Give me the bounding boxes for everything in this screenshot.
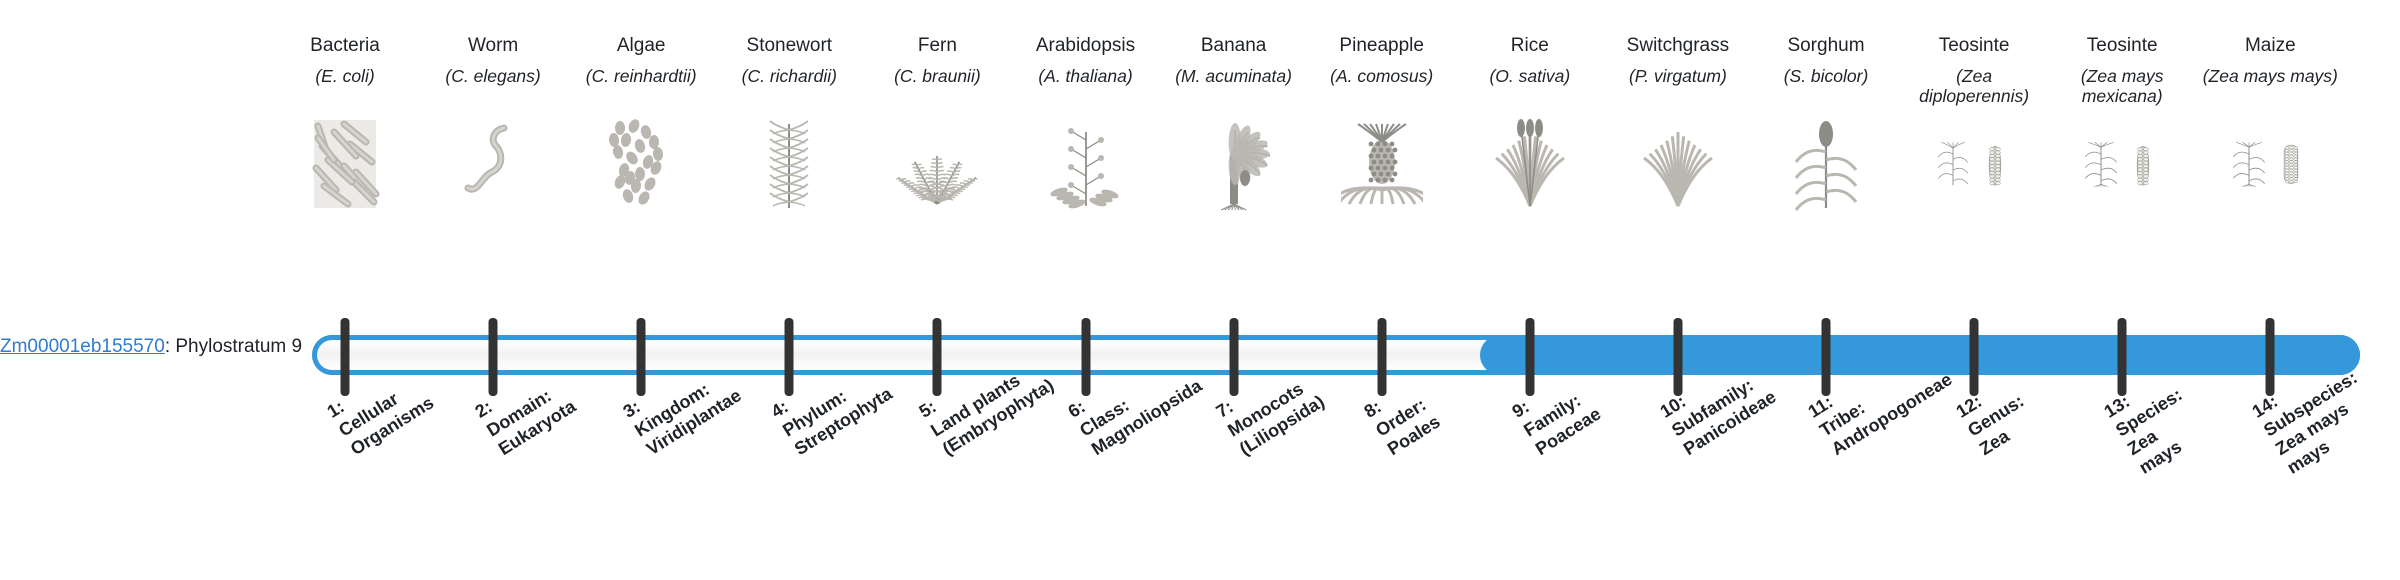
species-common-name: Switchgrass (1608, 34, 1748, 57)
species-column-maize-14: Maize(Zea mays mays) (2200, 34, 2340, 86)
species-latin-name: (S. bicolor) (1756, 66, 1896, 86)
species-column-stonewort-4: Stonewort(C. richardii) (719, 34, 859, 86)
species-column-bacteria-1: Bacteria(E. coli) (275, 34, 415, 86)
species-latin-name: (Zea mays mays) (2200, 66, 2340, 86)
banana-illustration-icon (1193, 116, 1275, 211)
gene-row-label: Zm00001eb155570: Phylostratum 9 (0, 335, 300, 359)
species-latin-name: (C. elegans) (423, 66, 563, 86)
maize-illustration-icon (2229, 116, 2311, 211)
species-common-name: Maize (2200, 34, 2340, 57)
fern-illustration-icon (896, 116, 978, 211)
species-column-banana-7: Banana(M. acuminata) (1164, 34, 1304, 86)
species-latin-name: (M. acuminata) (1164, 66, 1304, 86)
species-column-rice-9: Rice(O. sativa) (1460, 34, 1600, 86)
species-header-row: Bacteria(E. coli)Worm(C. elegans)Algae(C… (303, 34, 2363, 304)
phylostratum-figure: Zm00001eb155570: Phylostratum 9 Bacteria… (0, 0, 2400, 580)
species-column-fern-5: Fern(C. braunii) (867, 34, 1007, 86)
species-latin-name: (O. sativa) (1460, 66, 1600, 86)
switchgrass-illustration-icon (1637, 116, 1719, 211)
species-column-sorghum-11: Sorghum(S. bicolor) (1756, 34, 1896, 86)
species-common-name: Bacteria (275, 34, 415, 57)
species-latin-name: (C. braunii) (867, 66, 1007, 86)
species-common-name: Fern (867, 34, 1007, 57)
stonewort-illustration-icon (748, 116, 830, 211)
species-common-name: Teosinte (2052, 34, 2192, 57)
sorghum-illustration-icon (1785, 116, 1867, 211)
species-column-pineapple-8: Pineapple(A. comosus) (1312, 34, 1452, 86)
species-common-name: Teosinte (1904, 34, 2044, 57)
teosinte-diploperennis-illustration-icon (1933, 116, 2015, 211)
species-latin-name: (C. reinhardtii) (571, 66, 711, 86)
species-column-algae-3: Algae(C. reinhardtii) (571, 34, 711, 86)
species-common-name: Stonewort (719, 34, 859, 57)
species-latin-name: (A. comosus) (1312, 66, 1452, 86)
species-latin-name: (A. thaliana) (1016, 66, 1156, 86)
species-common-name: Arabidopsis (1016, 34, 1156, 57)
species-common-name: Algae (571, 34, 711, 57)
gene-accession-link[interactable]: Zm00001eb155570 (0, 336, 165, 357)
species-column-teosinte-12: Teosinte(Zea diploperennis) (1904, 34, 2044, 106)
rice-illustration-icon (1489, 116, 1571, 211)
species-common-name: Rice (1460, 34, 1600, 57)
species-latin-name: (C. richardii) (719, 66, 859, 86)
species-column-teosinte-13: Teosinte(Zea mays mexicana) (2052, 34, 2192, 106)
species-latin-name: (Zea mays mexicana) (2052, 66, 2192, 106)
species-latin-name: (Zea diploperennis) (1904, 66, 2044, 106)
species-column-switchgrass-10: Switchgrass(P. virgatum) (1608, 34, 1748, 86)
species-column-worm-2: Worm(C. elegans) (423, 34, 563, 86)
phylostratum-tick-1 (341, 318, 350, 396)
teosinte-mexicana-illustration-icon (2081, 116, 2163, 211)
species-common-name: Pineapple (1312, 34, 1452, 57)
worm-illustration-icon (452, 116, 534, 211)
species-column-arabidopsis-6: Arabidopsis(A. thaliana) (1016, 34, 1156, 86)
species-common-name: Sorghum (1756, 34, 1896, 57)
algae-illustration-icon (600, 116, 682, 211)
gene-phylostratum-text: Phylostratum 9 (175, 336, 302, 357)
arabidopsis-illustration-icon (1045, 116, 1127, 211)
bacteria-illustration-icon (304, 116, 386, 211)
species-latin-name: (P. virgatum) (1608, 66, 1748, 86)
species-common-name: Worm (423, 34, 563, 57)
pineapple-illustration-icon (1341, 116, 1423, 211)
gene-label-separator: : (165, 336, 176, 357)
species-common-name: Banana (1164, 34, 1304, 57)
species-latin-name: (E. coli) (275, 66, 415, 86)
